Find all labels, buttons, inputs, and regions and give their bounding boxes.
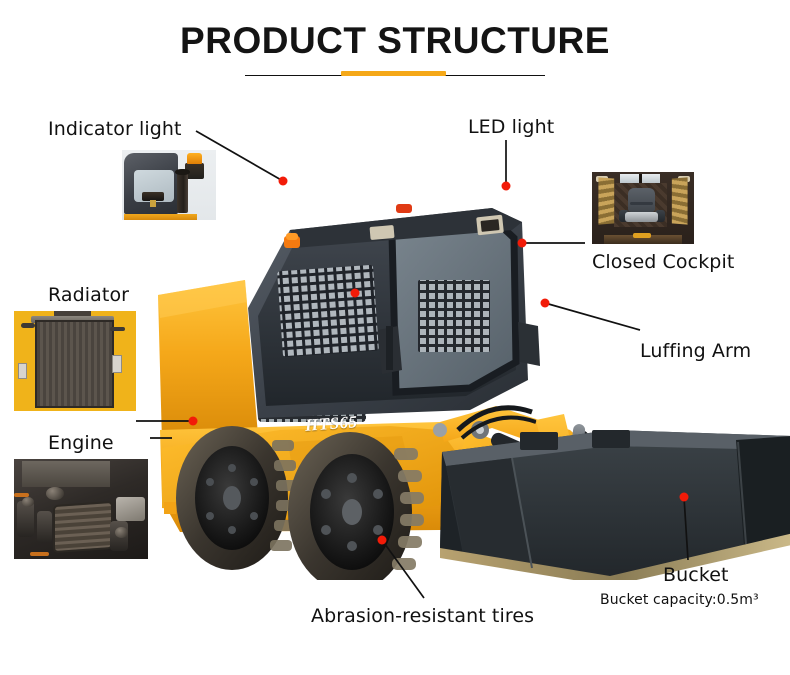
indicator-light-thumbnail [122, 150, 216, 220]
amber-beacon [284, 233, 300, 248]
bucket-shape [440, 430, 790, 580]
callout-label-radiator: Radiator [48, 284, 129, 306]
callout-label-engine: Engine [48, 432, 114, 454]
title-underline-accent [341, 71, 446, 76]
callout-label-bucket: Bucket [663, 564, 729, 586]
model-badge: HTS65 [304, 412, 358, 436]
led-work-light [476, 215, 504, 236]
callout-label-closed-cockpit: Closed Cockpit [592, 251, 734, 273]
rear-wheel [176, 426, 298, 570]
callout-label-indicator-light: Indicator light [48, 118, 182, 140]
radiator-thumbnail [14, 311, 136, 411]
callout-label-led-light: LED light [468, 116, 554, 138]
callout-label-abrasion-resistant-tires: Abrasion-resistant tires [311, 605, 534, 627]
product-structure-infographic: PRODUCT STRUCTURE [0, 0, 790, 675]
callout-sublabel-bucket-capacity: Bucket capacity:0.5m³ [600, 592, 759, 608]
callout-label-luffing-arm: Luffing Arm [640, 340, 751, 362]
engine-thumbnail [14, 459, 148, 559]
closed-cockpit-thumbnail [592, 172, 694, 244]
front-wheel [288, 432, 424, 580]
page-title: PRODUCT STRUCTURE [0, 20, 790, 62]
